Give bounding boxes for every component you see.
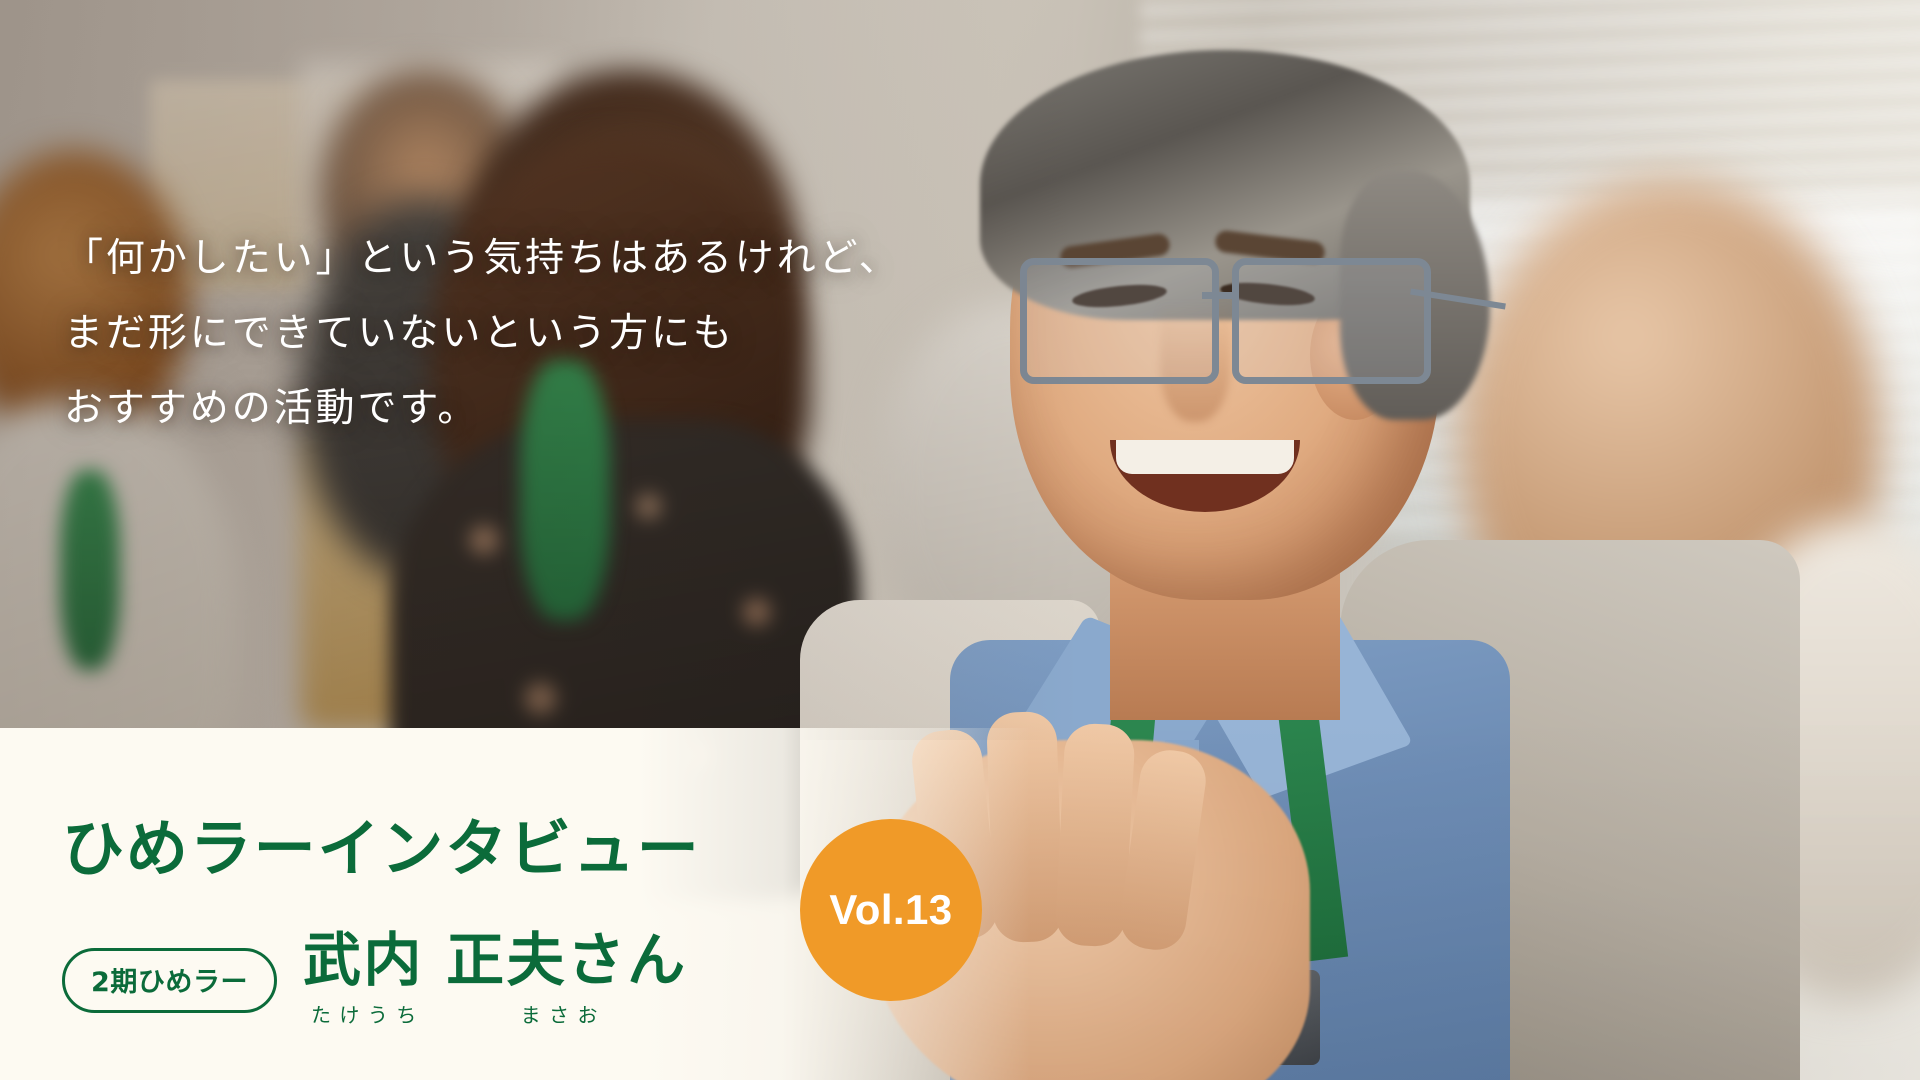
hero-quote-line-2: まだ形にできていないという方にも	[64, 297, 1004, 372]
interviewee-furigana: たけうち まさお	[303, 999, 687, 1028]
hero-banner: 「何かしたい」という気持ちはあるけれど、 まだ形にできていないという方にも おす…	[0, 0, 1920, 1080]
series-title: ひめラーインタビュー	[62, 798, 701, 888]
hero-quote-line-1: 「何かしたい」という気持ちはあるけれど、	[64, 222, 1004, 297]
furigana-family-name: たけうち	[311, 999, 425, 1028]
hero-quote: 「何かしたい」という気持ちはあるけれど、 まだ形にできていないという方にも おす…	[64, 222, 1004, 447]
volume-badge: Vol.13	[800, 819, 982, 1001]
furigana-given-name: まさお	[521, 999, 606, 1028]
hero-quote-line-3: おすすめの活動です。	[64, 372, 1004, 447]
interviewee-name-block: 武内 正夫さん たけうち まさお	[303, 930, 687, 1028]
interviewee-name-row: 2期ひめラー 武内 正夫さん たけうち まさお	[62, 930, 687, 1028]
volume-badge-label: Vol.13	[829, 886, 952, 934]
interviewee-name: 武内 正夫さん	[303, 930, 687, 991]
cohort-badge: 2期ひめラー	[62, 948, 277, 1013]
